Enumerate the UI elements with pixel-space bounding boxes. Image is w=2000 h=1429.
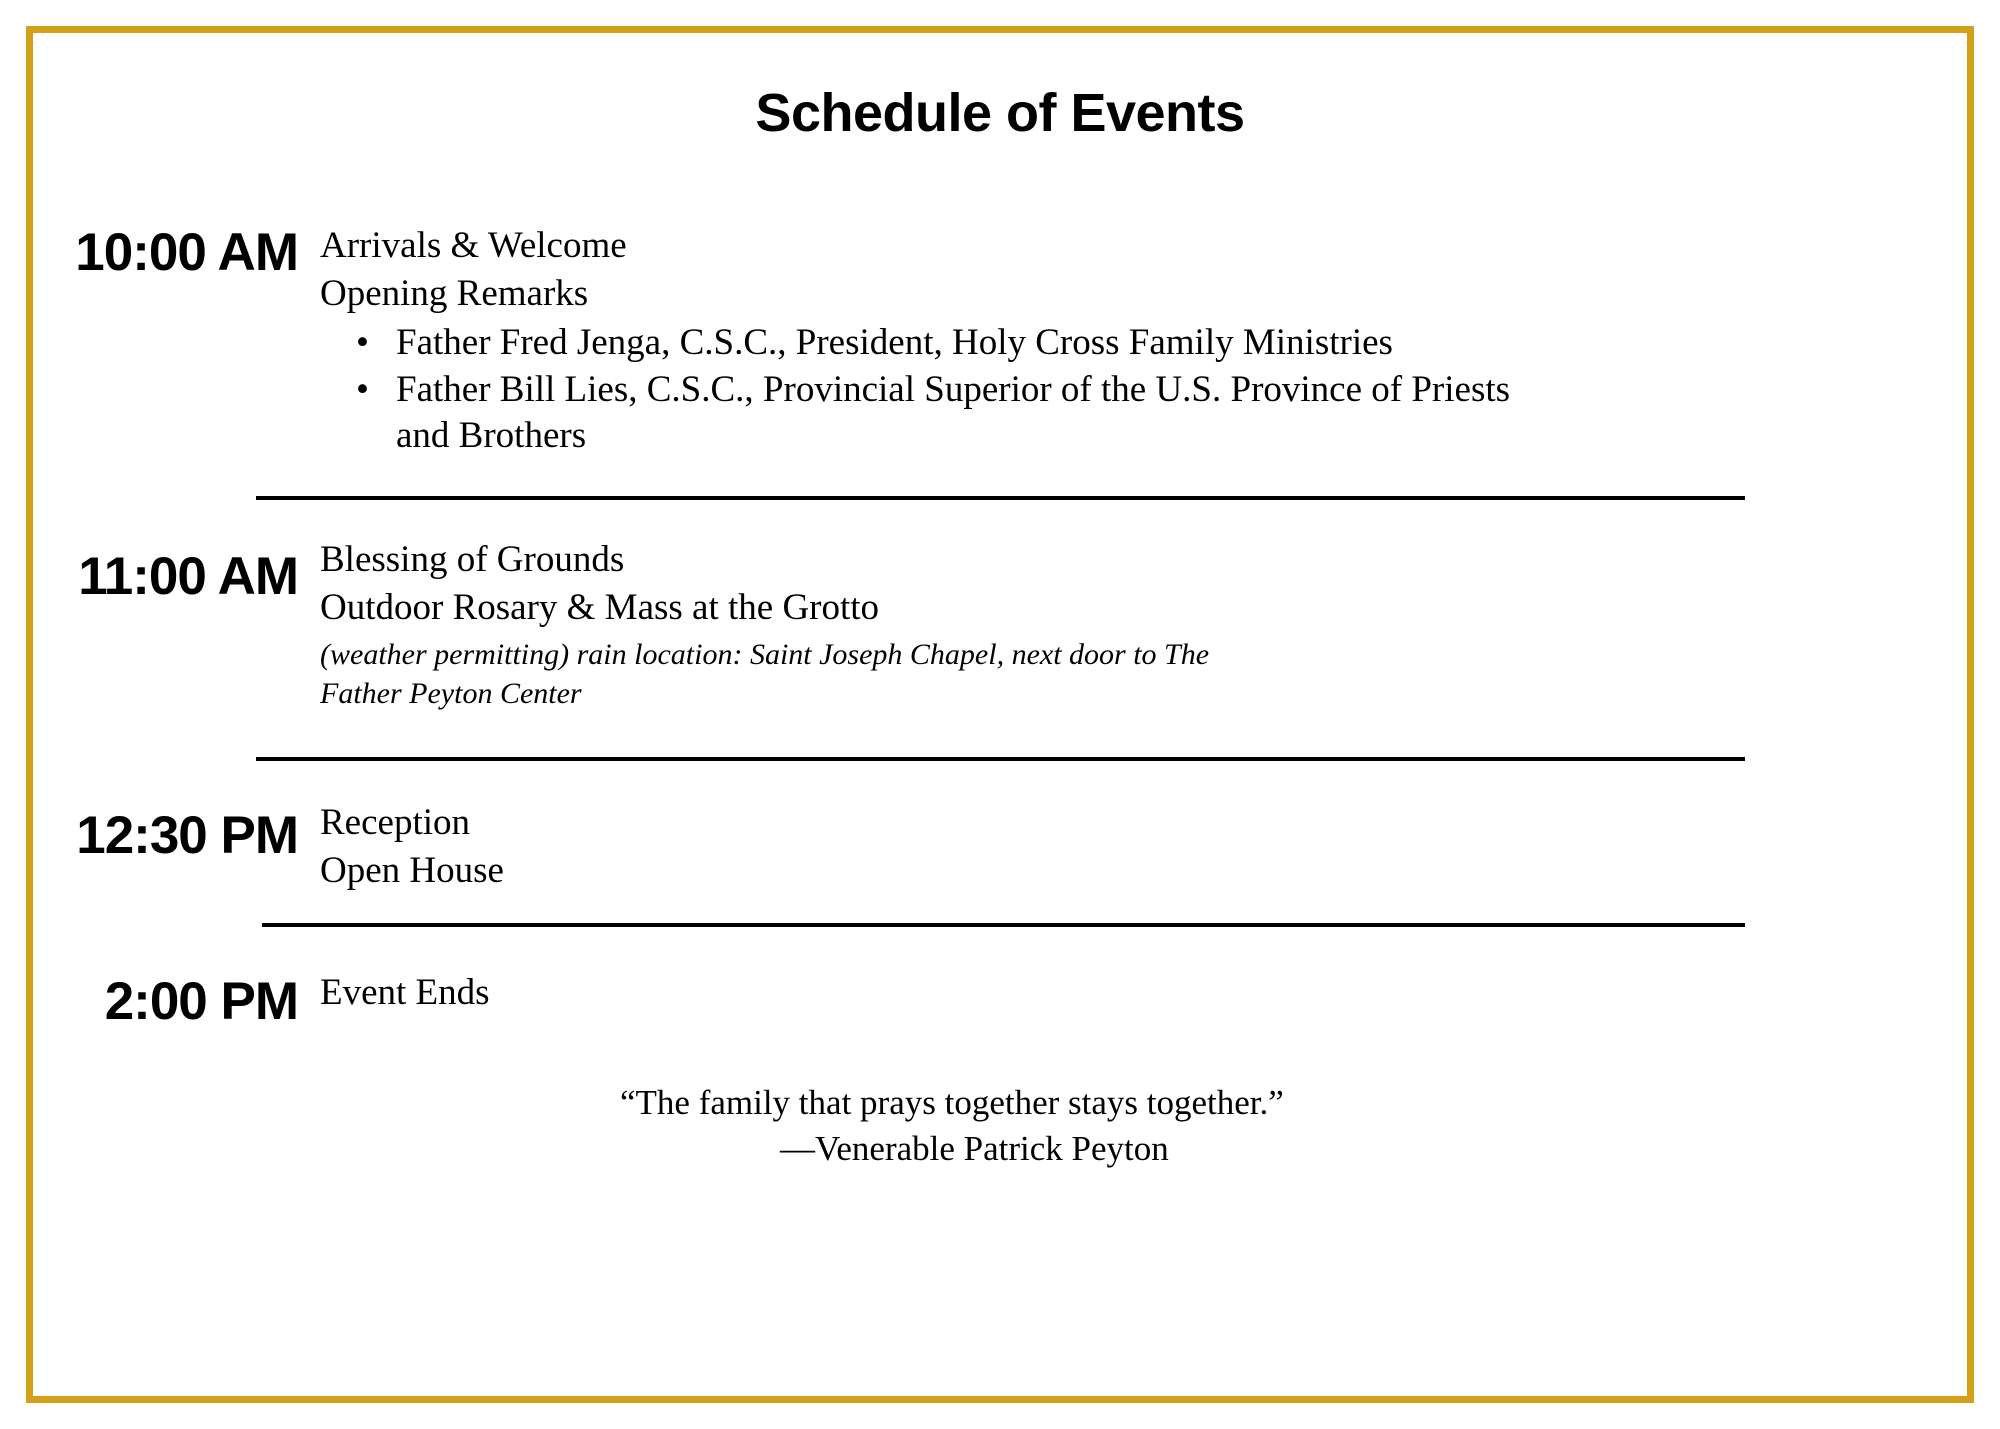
schedule-page: Schedule of Events 10:00 AM Arrivals & W…: [0, 0, 2000, 1429]
schedule-line: Event Ends: [320, 969, 2000, 1017]
schedule-description: Blessing of Grounds Outdoor Rosary & Mas…: [320, 536, 2000, 713]
schedule-content: Schedule of Events 10:00 AM Arrivals & W…: [0, 0, 2000, 1429]
schedule-description: Event Ends: [320, 969, 2000, 1017]
schedule-block: 11:00 AM Blessing of Grounds Outdoor Ros…: [0, 500, 2000, 713]
schedule-line: Opening Remarks: [320, 270, 2000, 318]
schedule-time: 12:30 PM: [0, 799, 320, 862]
schedule-bullet-list: • Father Fred Jenga, C.S.C., President, …: [320, 320, 2000, 460]
schedule-line: Blessing of Grounds: [320, 536, 2000, 584]
schedule-time: 10:00 AM: [0, 222, 320, 279]
schedule-line: Reception: [320, 799, 2000, 847]
schedule-block: 2:00 PM Event Ends: [0, 927, 2000, 1028]
schedule-description: Arrivals & Welcome Opening Remarks • Fat…: [320, 222, 2000, 460]
list-item-label: Father Fred Jenga, C.S.C., President, Ho…: [396, 322, 1393, 363]
list-item: • Father Bill Lies, C.S.C., Provincial S…: [320, 367, 1516, 460]
schedule-time: 2:00 PM: [0, 969, 320, 1028]
schedule-line: Arrivals & Welcome: [320, 222, 2000, 270]
schedule-line: Outdoor Rosary & Mass at the Grotto: [320, 584, 2000, 632]
schedule-note: (weather permitting) rain location: Sain…: [320, 636, 1220, 713]
page-title: Schedule of Events: [0, 0, 2000, 140]
bullet-dot-icon: •: [356, 367, 369, 414]
closing-quote: “The family that prays together stays to…: [0, 1028, 2000, 1172]
schedule-block: 12:30 PM Reception Open House: [0, 761, 2000, 895]
schedule-line: Open House: [320, 847, 2000, 895]
bullet-dot-icon: •: [356, 320, 369, 367]
schedule-block: 10:00 AM Arrivals & Welcome Opening Rema…: [0, 140, 2000, 460]
schedule-time: 11:00 AM: [0, 536, 320, 603]
list-item: • Father Fred Jenga, C.S.C., President, …: [320, 320, 1516, 367]
schedule-list: 10:00 AM Arrivals & Welcome Opening Rema…: [0, 140, 2000, 1028]
quote-attribution: —Venerable Patrick Peyton: [620, 1126, 2000, 1172]
quote-text: “The family that prays together stays to…: [620, 1080, 2000, 1126]
schedule-description: Reception Open House: [320, 799, 2000, 895]
list-item-label: Father Bill Lies, C.S.C., Provincial Sup…: [396, 369, 1510, 457]
